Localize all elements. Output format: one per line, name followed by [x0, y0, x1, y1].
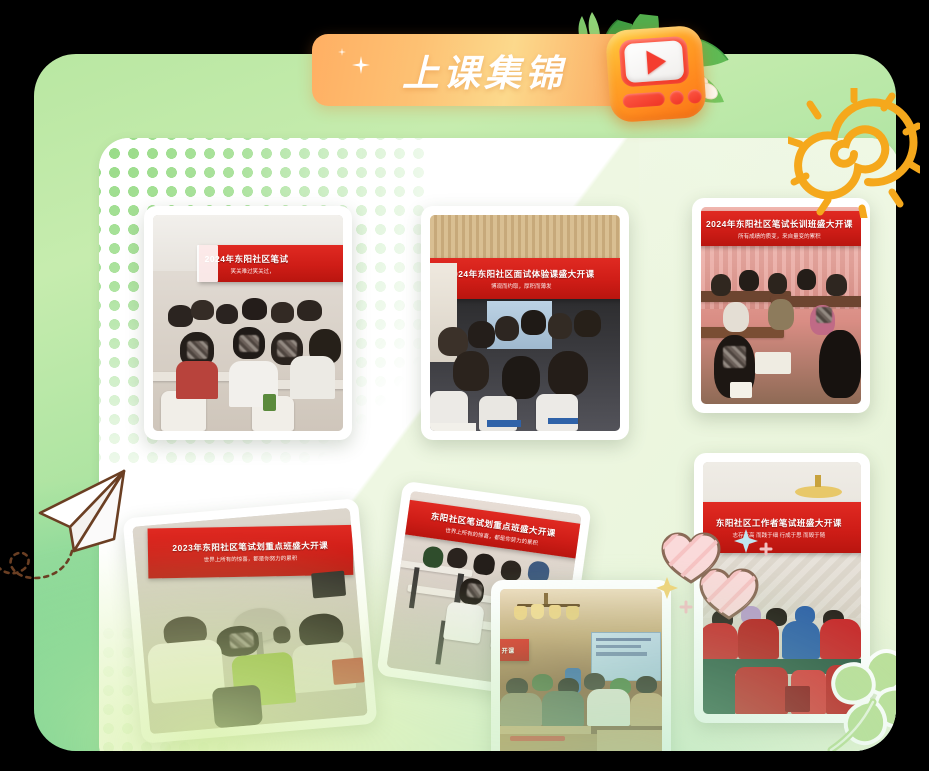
gallery-photo-5[interactable]: 东阳社区笔试划重点班盛大开课 世界上所有的惊喜，都是你努力的累积	[376, 481, 591, 702]
photo-1-banner-subtitle: 笑关难过笑关过，	[231, 267, 275, 275]
photo-2-banner: 2024年东阳社区面试体验课盛大开课 博观而约取，厚积而薄发	[430, 258, 620, 299]
photo-6-banner-title: 开课	[502, 646, 515, 655]
sun-doodle-icon	[788, 88, 920, 218]
four-leaf-clover-icon	[805, 626, 896, 751]
sparkle-icon	[352, 56, 370, 74]
photo-3-banner-subtitle: 所有成绩的质变，来自量变的累积	[738, 232, 821, 240]
play-triangle-icon	[646, 49, 667, 74]
gallery-photo-2[interactable]: 2024年东阳社区面试体验课盛大开课 博观而约取，厚积而薄发	[421, 206, 629, 440]
gallery-photo-4[interactable]: 2023年东阳社区笔试划重点班盛大开课 世界上所有的惊喜，都是你努力的累积	[123, 498, 378, 744]
screenshot-stage: 2024年东阳社区笔试 笑关难过笑关过，	[0, 0, 929, 771]
photo-2-banner-title: 2024年东阳社区面试体验课盛大开课	[448, 268, 595, 280]
header-banner: 上课集锦	[312, 34, 712, 106]
photo-4-banner-title: 2023年东阳社区笔试划重点班盛大开课	[172, 540, 328, 555]
photo-6-banner: 开课	[500, 639, 529, 661]
gallery-photo-3[interactable]: 2024年东阳社区笔试长训班盛大开课 所有成绩的质变，来自量变的累积	[692, 198, 870, 413]
gallery-photo-6[interactable]: 开课	[491, 580, 671, 751]
hearts-sparkle-decoration	[649, 521, 779, 631]
tv-play-icon[interactable]	[605, 25, 707, 123]
paper-plane-icon	[0, 455, 156, 610]
gallery-photo-1[interactable]: 2024年东阳社区笔试 笑关难过笑关过，	[144, 206, 352, 440]
sparkle-icon-small	[338, 48, 346, 56]
photo-4-banner: 2023年东阳社区笔试划重点班盛大开课 世界上所有的惊喜，都是你努力的累积	[148, 525, 354, 578]
page-title: 上课集锦	[402, 43, 566, 97]
tv-speaker-bar	[622, 91, 665, 108]
gallery-photo-7[interactable]: 东阳社区工作者笔试班盛大开课 志存于高 而践于细 行成于思 而毁于随	[694, 453, 870, 723]
photo-2-banner-subtitle: 博观而约取，厚积而薄发	[491, 282, 552, 290]
photo-3-banner-title: 2024年东阳社区笔试长训班盛大开课	[706, 218, 853, 230]
tv-screen-frame	[619, 36, 690, 88]
inner-content-card: 2024年东阳社区笔试 笑关难过笑关过，	[99, 138, 896, 751]
tv-screen	[624, 40, 685, 83]
photo-4-banner-subtitle: 世界上所有的惊喜，都是你努力的累积	[204, 554, 298, 564]
halftone-dots-decoration-bottom	[99, 624, 279, 751]
photo-1-banner: 2024年东阳社区笔试 笑关难过笑关过，	[199, 245, 343, 282]
outer-green-card: 2024年东阳社区笔试 笑关难过笑关过，	[34, 54, 896, 751]
